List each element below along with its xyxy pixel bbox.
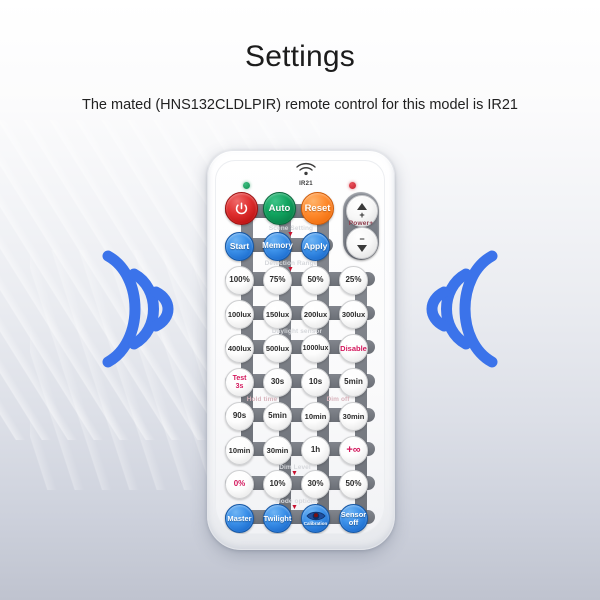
detection-25-label: 25% [344,276,362,284]
detection-50-label: 50% [306,276,324,284]
remote-control: IR21 + − Power+ [207,150,395,550]
dimoff-10min-label: 10min [304,413,328,421]
page-title: Settings [0,40,600,74]
memory-label: Memory [261,242,294,250]
lux-1000-label: 1000lux [302,345,330,352]
sensor-off-label: Sensor off [340,511,367,526]
green-led [243,182,250,189]
page-root: Settings The mated (HNS132CLDLPIR) remot… [0,0,600,600]
dimoff-10s-label: 10s [308,378,323,386]
dimoff-infinite-button[interactable]: +∞ [339,436,368,465]
dimoff-5min-label: 5min [343,378,364,386]
lux-400-label: 400lux [227,345,252,353]
hold-5min-button[interactable]: 5min [263,402,292,431]
calibration-label: Calibration [303,522,329,527]
hold-30min-button[interactable]: 30min [263,436,292,465]
dimoff-1h-button[interactable]: 1h [301,436,330,465]
lux-disable-button[interactable]: Disable [339,334,368,363]
twilight-button[interactable]: Twilight [263,504,292,533]
power-section-label: Power+ [339,220,383,227]
start-label: Start [229,242,250,251]
dim-0-button[interactable]: 0% [225,470,254,499]
power-up-label: + [359,211,364,220]
hold-30s-label: 30s [270,378,285,386]
dimoff-1h-label: 1h [310,446,321,454]
remote-faceplate: IR21 + − Power+ [215,160,385,534]
hold-30min-label: 30min [266,447,290,455]
dimoff-infinite-label: +∞ [345,445,361,456]
dim-50-label: 50% [344,480,362,488]
master-label: Master [226,515,252,523]
lux-400-button[interactable]: 400lux [225,334,254,363]
triangle-down-icon [357,245,367,252]
detection-100-label: 100% [228,276,250,284]
red-led [349,182,356,189]
lux-300-label: 300lux [341,311,366,319]
ir-brand-label: IR21 [287,181,325,187]
dimoff-30min-label: 30min [342,413,366,421]
sensor-off-button[interactable]: Sensor off [339,504,368,533]
memory-button[interactable]: Memory [263,232,292,261]
lux-200-label: 200lux [303,311,328,319]
mode-marker-icon: ▼ [291,504,298,511]
dimoff-10s-button[interactable]: 10s [301,368,330,397]
dim-10-button[interactable]: 10% [263,470,292,499]
master-button[interactable]: Master [225,504,254,533]
dim-level-marker-icon: ▼ [291,470,298,477]
lux-100-label: 100lux [227,311,252,319]
apply-button[interactable]: Apply [301,232,330,261]
apply-label: Apply [303,242,329,251]
detection-75-label: 75% [268,276,286,284]
power-down-button[interactable]: − [346,227,378,259]
lux-150-button[interactable]: 150lux [263,300,292,329]
signal-waves-left-icon [98,248,176,375]
signal-waves-right-icon [424,248,502,375]
dim-0-label: 0% [233,480,247,488]
lux-500-button[interactable]: 500lux [263,334,292,363]
dim-10-label: 10% [268,480,286,488]
auto-label: Auto [268,204,292,214]
hold-30s-button[interactable]: 30s [263,368,292,397]
hold-10min-button[interactable]: 10min [225,436,254,465]
daylight-section-label: Daylight sensor [249,328,345,335]
lux-150-label: 150lux [265,311,290,319]
dimoff-5min-button[interactable]: 5min [339,368,368,397]
detection-25-button[interactable]: 25% [339,266,368,295]
hold-90s-button[interactable]: 90s [225,402,254,431]
dimoff-10min-button[interactable]: 10min [301,402,330,431]
power-icon [234,201,249,216]
lux-disable-label: Disable [339,345,368,353]
power-button[interactable] [225,192,258,225]
test-3s-label: Test 3s [232,375,248,389]
reset-label: Reset [304,204,332,214]
detection-50-button[interactable]: 50% [301,266,330,295]
page-subtitle: The mated (HNS132CLDLPIR) remote control… [0,97,600,113]
dim-30-label: 30% [306,480,324,488]
twilight-label: Twilight [263,515,293,523]
dim-50-button[interactable]: 50% [339,470,368,499]
power-down-label: − [359,235,364,244]
lux-500-label: 500lux [265,345,290,353]
lux-200-button[interactable]: 200lux [301,300,330,329]
hold-90s-label: 90s [232,412,247,420]
eye-icon [306,510,326,522]
dimoff-30min-button[interactable]: 30min [339,402,368,431]
dim-30-button[interactable]: 30% [301,470,330,499]
start-button[interactable]: Start [225,232,254,261]
test-3s-button[interactable]: Test 3s [225,368,254,397]
auto-button[interactable]: Auto [263,192,296,225]
lux-300-button[interactable]: 300lux [339,300,368,329]
hold-10min-label: 10min [228,447,252,455]
reset-button[interactable]: Reset [301,192,334,225]
calibration-button[interactable]: Calibration [301,504,330,533]
lux-1000-button[interactable]: 1000lux [301,334,330,363]
lux-100-button[interactable]: 100lux [225,300,254,329]
detection-75-button[interactable]: 75% [263,266,292,295]
hold-5min-label: 5min [267,412,288,420]
ir-signal-icon: IR21 [287,162,325,187]
detection-100-button[interactable]: 100% [225,266,254,295]
triangle-up-icon [357,203,367,210]
